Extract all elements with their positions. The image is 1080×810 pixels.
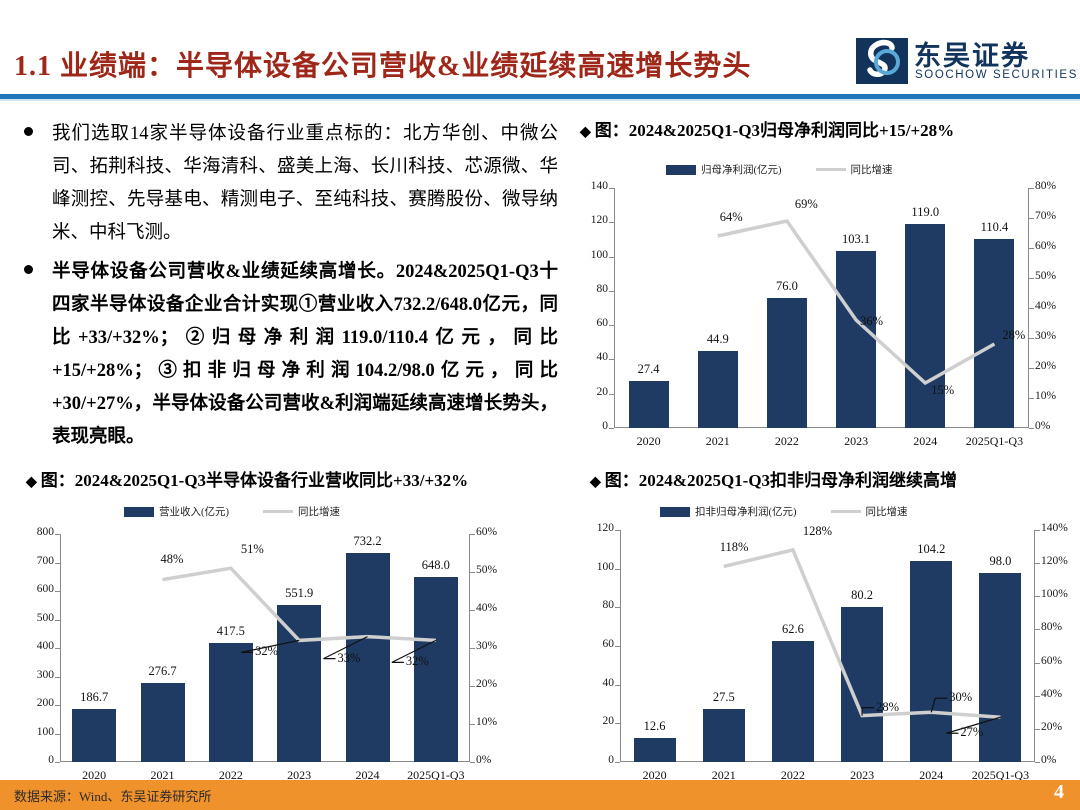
y-tick-label-right: 0% — [476, 754, 520, 766]
list-item: 我们选取14家半导体设备行业重点标的：北方华创、中微公司、拓荆科技、华海清科、盛… — [18, 118, 558, 250]
diamond-icon: ◆ — [580, 125, 591, 140]
line-value-label: 30% — [949, 690, 972, 705]
y-tick-right — [1035, 663, 1040, 664]
y-tick-right — [1029, 248, 1034, 249]
y-tick-label-left: 80 — [566, 283, 608, 295]
y-tick-right — [1029, 338, 1034, 339]
plot-area-deducted: 0204060801001200%20%40%60%80%100%120%140… — [620, 530, 1035, 762]
line-value-label: 15% — [931, 383, 954, 398]
header-divider-light — [0, 99, 1080, 101]
y-tick-label-left: 0 — [566, 420, 608, 432]
logo-chinese-name: 东吴证券 — [914, 34, 1030, 73]
y-tick-right — [1035, 729, 1040, 730]
line-value-label: 36% — [860, 314, 883, 329]
y-tick-label-left: 120 — [572, 522, 614, 534]
legend-label-bar: 归母净利润(亿元) — [701, 162, 782, 177]
y-tick-label-left: 100 — [572, 561, 614, 573]
bullet-text-1: 我们选取14家半导体设备行业重点标的：北方华创、中微公司、拓荆科技、华海清科、盛… — [52, 118, 558, 250]
chart-net-profit: ◆图：2024&2025Q1-Q3归母净利润同比+15/+28% 归母净利润(亿… — [580, 116, 1070, 446]
page-number: 4 — [1054, 781, 1064, 804]
y-tick-label-left: 60 — [566, 317, 608, 329]
y-tick-label-right: 0% — [1041, 754, 1080, 766]
y-tick-label-right: 40% — [1035, 300, 1079, 312]
y-tick-label-right: 50% — [476, 564, 520, 576]
legend-label-line: 同比增速 — [866, 504, 908, 519]
y-tick-label-right: 20% — [1035, 360, 1079, 372]
y-tick-right — [1035, 596, 1040, 597]
y-tick-right — [1029, 188, 1034, 189]
y-tick-label-right: 20% — [476, 678, 520, 690]
y-tick-label-left: 140 — [566, 180, 608, 192]
y-tick-label-left: 800 — [12, 526, 54, 538]
y-tick-label-right: 40% — [1041, 688, 1080, 700]
y-tick-label-left: 700 — [12, 555, 54, 567]
legend-line-icon — [816, 168, 846, 171]
y-tick-right — [470, 762, 475, 763]
y-tick-right — [1029, 278, 1034, 279]
y-tick-right — [1029, 368, 1034, 369]
legend-line-icon — [263, 510, 293, 513]
y-tick-label-right: 10% — [476, 716, 520, 728]
y-tick-label-right: 140% — [1041, 522, 1080, 534]
bullet-dot-icon — [24, 265, 33, 274]
y-tick-label-left: 20 — [566, 386, 608, 398]
diamond-icon: ◆ — [590, 475, 601, 490]
diamond-icon: ◆ — [26, 475, 37, 490]
plot-area-revenue: 01002003004005006007008000%10%20%30%40%5… — [60, 534, 470, 762]
y-tick-label-right: 30% — [476, 640, 520, 652]
line-value-label: 28% — [876, 700, 899, 715]
line-value-label: 32% — [406, 654, 429, 669]
legend-swatch-icon — [124, 507, 154, 517]
y-tick-right — [470, 534, 475, 535]
y-tick-label-left: 400 — [12, 640, 54, 652]
y-tick-label-right: 80% — [1041, 621, 1080, 633]
line-value-label: 32% — [255, 644, 278, 659]
legend-entry-line: 同比增速 — [816, 162, 893, 177]
y-tick-label-left: 120 — [566, 214, 608, 226]
legend-swatch-icon — [660, 507, 690, 517]
y-tick-right — [470, 648, 475, 649]
y-tick-right — [1029, 428, 1034, 429]
line-value-label: 64% — [720, 210, 743, 225]
company-logo: 东吴证券 SOOCHOW SECURITIES — [856, 36, 1066, 92]
y-tick-label-left: 80 — [572, 599, 614, 611]
chart-legend-revenue: 营业收入(亿元) 同比增速 — [124, 504, 340, 519]
line-series — [614, 188, 1029, 428]
y-tick-right — [470, 610, 475, 611]
page-title: 1.1 业绩端：半导体设备公司营收&业绩延续高速增长势头 — [14, 44, 751, 84]
chart-revenue: ◆图：2024&2025Q1-Q3半导体设备行业营收同比+33/+32% 营业收… — [14, 466, 534, 781]
soochow-logo-icon — [856, 38, 908, 84]
legend-line-icon — [831, 510, 861, 513]
y-tick-label-right: 10% — [1035, 390, 1079, 402]
y-tick-label-right: 50% — [1035, 270, 1079, 282]
y-tick-left — [55, 762, 60, 763]
y-tick-label-right: 60% — [1035, 240, 1079, 252]
x-category-label: 2025Q1-Q3 — [949, 434, 1039, 449]
line-value-label: 69% — [795, 197, 818, 212]
y-tick-label-right: 100% — [1041, 588, 1080, 600]
y-tick-label-right: 70% — [1035, 210, 1079, 222]
legend-label-line: 同比增速 — [851, 162, 893, 177]
y-tick-right — [470, 686, 475, 687]
y-tick-label-left: 0 — [572, 754, 614, 766]
chart-title-revenue: ◆图：2024&2025Q1-Q3半导体设备行业营收同比+33/+32% — [26, 466, 468, 491]
chart-legend-net-profit: 归母净利润(亿元) 同比增速 — [666, 162, 893, 177]
legend-label-line: 同比增速 — [298, 504, 340, 519]
y-tick-label-right: 60% — [1041, 655, 1080, 667]
y-tick-label-left: 200 — [12, 697, 54, 709]
bullet-list: 我们选取14家半导体设备行业重点标的：北方华创、中微公司、拓荆科技、华海清科、盛… — [18, 118, 558, 460]
line-value-label: 118% — [720, 540, 749, 555]
y-tick-right — [1029, 398, 1034, 399]
line-value-label: 51% — [241, 542, 264, 557]
line-value-label: 48% — [161, 552, 184, 567]
y-tick-label-right: 20% — [1041, 721, 1080, 733]
slide-page: 1.1 业绩端：半导体设备公司营收&业绩延续高速增长势头 东吴证券 SOOCHO… — [0, 0, 1080, 810]
logo-english-name: SOOCHOW SECURITIES — [915, 69, 1078, 81]
y-tick-label-right: 40% — [476, 602, 520, 614]
legend-entry-bar: 扣非归母净利润(亿元) — [660, 504, 797, 519]
y-tick-label-left: 100 — [566, 249, 608, 261]
y-tick-label-left: 100 — [12, 726, 54, 738]
plot-area-net-profit: 0204060801001201400%10%20%30%40%50%60%70… — [614, 188, 1029, 428]
chart-deducted-net-profit: ◆图：2024&2025Q1-Q3扣非归母净利润继续高增 扣非归母净利润(亿元)… — [580, 466, 1075, 781]
chart-legend-deducted: 扣非归母净利润(亿元) 同比增速 — [660, 504, 908, 519]
y-tick-right — [470, 724, 475, 725]
chart-title-text: 图：2024&2025Q1-Q3扣非归母净利润继续高增 — [605, 471, 957, 490]
y-tick-label-right: 60% — [476, 526, 520, 538]
legend-label-bar: 营业收入(亿元) — [159, 504, 229, 519]
y-tick-label-left: 40 — [572, 677, 614, 689]
y-tick-label-left: 40 — [566, 351, 608, 363]
chart-title-net-profit: ◆图：2024&2025Q1-Q3归母净利润同比+15/+28% — [580, 116, 954, 141]
chart-title-text: 图：2024&2025Q1-Q3半导体设备行业营收同比+33/+32% — [41, 471, 468, 490]
y-tick-right — [1029, 308, 1034, 309]
y-tick-label-left: 500 — [12, 612, 54, 624]
y-tick-left — [609, 428, 614, 429]
y-tick-label-left: 20 — [572, 715, 614, 727]
bullet-dot-icon — [24, 127, 33, 136]
y-tick-label-left: 60 — [572, 638, 614, 650]
y-tick-left — [615, 762, 620, 763]
y-tick-label-left: 0 — [12, 754, 54, 766]
y-tick-label-right: 30% — [1035, 330, 1079, 342]
line-value-label: 33% — [338, 651, 361, 666]
y-tick-label-left: 600 — [12, 583, 54, 595]
line-value-label: 128% — [803, 524, 832, 539]
slide-header: 1.1 业绩端：半导体设备公司营收&业绩延续高速增长势头 东吴证券 SOOCHO… — [0, 0, 1080, 100]
legend-entry-line: 同比增速 — [263, 504, 340, 519]
line-value-label: 28% — [1002, 328, 1025, 343]
chart-title-deducted: ◆图：2024&2025Q1-Q3扣非归母净利润继续高增 — [590, 466, 957, 491]
data-source-text: 数据来源：Wind、东吴证券研究所 — [14, 786, 211, 805]
list-item: 半导体设备公司营收&业绩延续高增长。2024&2025Q1-Q3十四家半导体设备… — [18, 256, 558, 454]
legend-label-bar: 扣非归母净利润(亿元) — [695, 504, 797, 519]
legend-entry-bar: 归母净利润(亿元) — [666, 162, 782, 177]
chart-title-text: 图：2024&2025Q1-Q3归母净利润同比+15/+28% — [595, 121, 954, 140]
slide-footer: 数据来源：Wind、东吴证券研究所 4 — [0, 780, 1080, 810]
legend-swatch-icon — [666, 165, 696, 175]
y-tick-label-right: 120% — [1041, 555, 1080, 567]
y-tick-right — [1035, 530, 1040, 531]
y-tick-label-left: 300 — [12, 669, 54, 681]
y-tick-right — [1035, 762, 1040, 763]
y-tick-label-right: 0% — [1035, 420, 1079, 432]
y-tick-right — [1035, 629, 1040, 630]
bullet-text-2: 半导体设备公司营收&业绩延续高增长。2024&2025Q1-Q3十四家半导体设备… — [52, 256, 558, 454]
y-tick-right — [1035, 696, 1040, 697]
legend-entry-line: 同比增速 — [831, 504, 908, 519]
line-value-label: 27% — [960, 725, 983, 740]
y-tick-label-right: 80% — [1035, 180, 1079, 192]
legend-entry-bar: 营业收入(亿元) — [124, 504, 229, 519]
